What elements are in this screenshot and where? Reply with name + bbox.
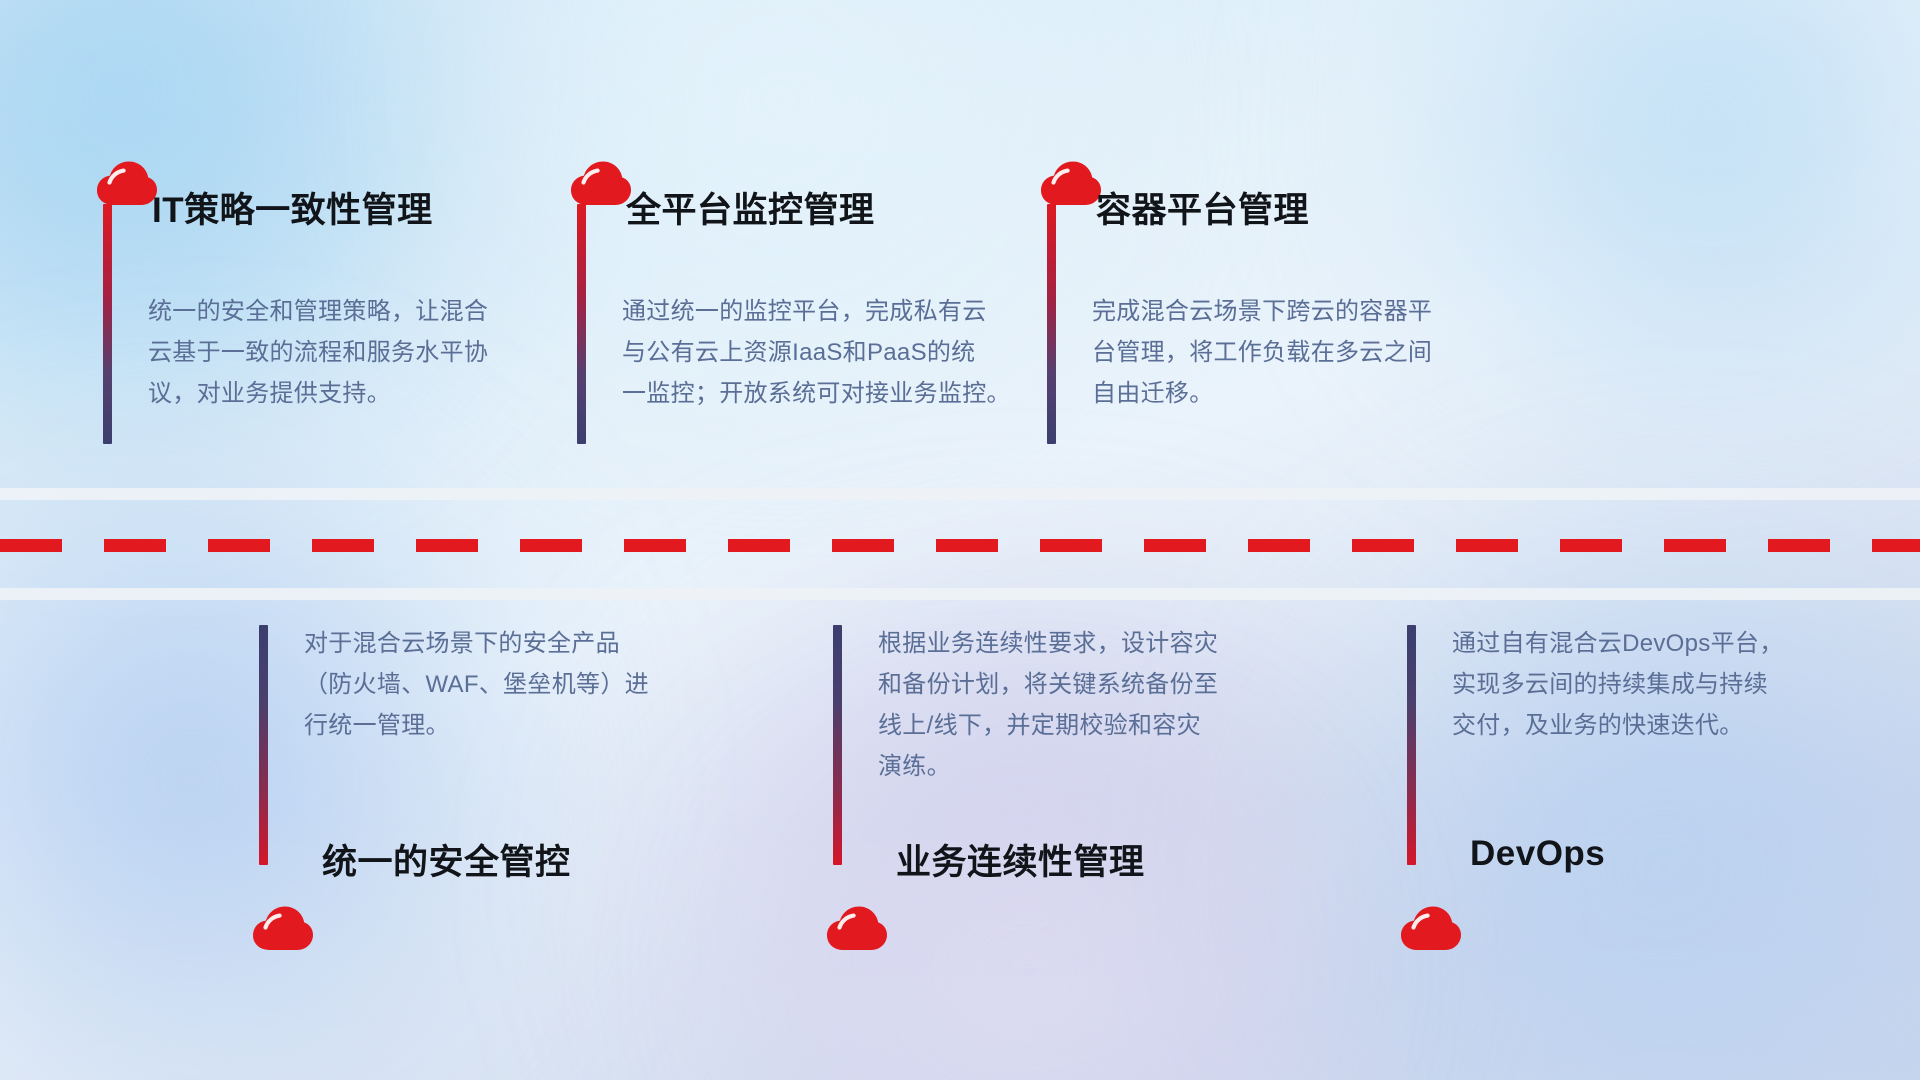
cloud-icon (1040, 160, 1102, 208)
cloud-pin-business-continuity (826, 905, 888, 953)
connector-bar (833, 625, 842, 865)
feature-title: 容器平台管理 (1096, 182, 1309, 233)
cloud-pin-security-control (252, 905, 314, 953)
feature-description: 通过自有混合云DevOps平台， 实现多云间的持续集成与持续 交付，及业务的快速… (1452, 623, 1892, 746)
cloud-pin-container-platform (1040, 160, 1102, 208)
feature-column-security-control: 对于混合云场景下的安全产品 （防火墙、WAF、堡垒机等）进 行统一管理。 统一的… (252, 625, 772, 955)
connector-bar (1407, 625, 1416, 865)
feature-description: 完成混合云场景下跨云的容器平 台管理，将工作负载在多云之间 自由迁移。 (1092, 291, 1552, 414)
connector-bar (103, 204, 112, 444)
cloud-pin-devops (1400, 905, 1462, 953)
feature-column-devops: 通过自有混合云DevOps平台， 实现多云间的持续集成与持续 交付，及业务的快速… (1400, 625, 1900, 955)
feature-title: DevOps (1470, 834, 1605, 874)
cloud-icon (96, 160, 158, 208)
feature-description: 统一的安全和管理策略，让混合 云基于一致的流程和服务水平协 议，对业务提供支持。 (148, 291, 608, 414)
feature-description: 对于混合云场景下的安全产品 （防火墙、WAF、堡垒机等）进 行统一管理。 (304, 623, 764, 746)
connector-bar (1047, 204, 1056, 444)
feature-description: 通过统一的监控平台，完成私有云 与公有云上资源IaaS和PaaS的统 一监控；开… (622, 291, 1112, 414)
feature-column-monitoring: 全平台监控管理 通过统一的监控平台，完成私有云 与公有云上资源IaaS和PaaS… (570, 160, 1110, 490)
feature-description: 根据业务连续性要求，设计容灾 和备份计划，将关键系统备份至 线上/线下，并定期校… (878, 623, 1338, 787)
road-center-dashed-line (0, 539, 1920, 552)
connector-bar (577, 204, 586, 444)
infographic-canvas: IT策略一致性管理 统一的安全和管理策略，让混合 云基于一致的流程和服务水平协 … (0, 0, 1920, 1080)
cloud-pin-monitoring (570, 160, 632, 208)
feature-title: 业务连续性管理 (896, 834, 1145, 885)
cloud-pin-it-policy (96, 160, 158, 208)
cloud-icon (570, 160, 632, 208)
cloud-icon (826, 905, 888, 953)
feature-column-container-platform: 容器平台管理 完成混合云场景下跨云的容器平 台管理，将工作负载在多云之间 自由迁… (1040, 160, 1560, 490)
cloud-icon (252, 905, 314, 953)
feature-column-it-policy: IT策略一致性管理 统一的安全和管理策略，让混合 云基于一致的流程和服务水平协 … (96, 160, 616, 490)
cloud-icon (1400, 905, 1462, 953)
road-edge-bottom (0, 588, 1920, 600)
feature-title: 统一的安全管控 (322, 834, 571, 885)
feature-column-business-continuity: 根据业务连续性要求，设计容灾 和备份计划，将关键系统备份至 线上/线下，并定期校… (826, 625, 1346, 955)
feature-title: IT策略一致性管理 (152, 182, 433, 233)
connector-bar (259, 625, 268, 865)
feature-title: 全平台监控管理 (626, 182, 875, 233)
